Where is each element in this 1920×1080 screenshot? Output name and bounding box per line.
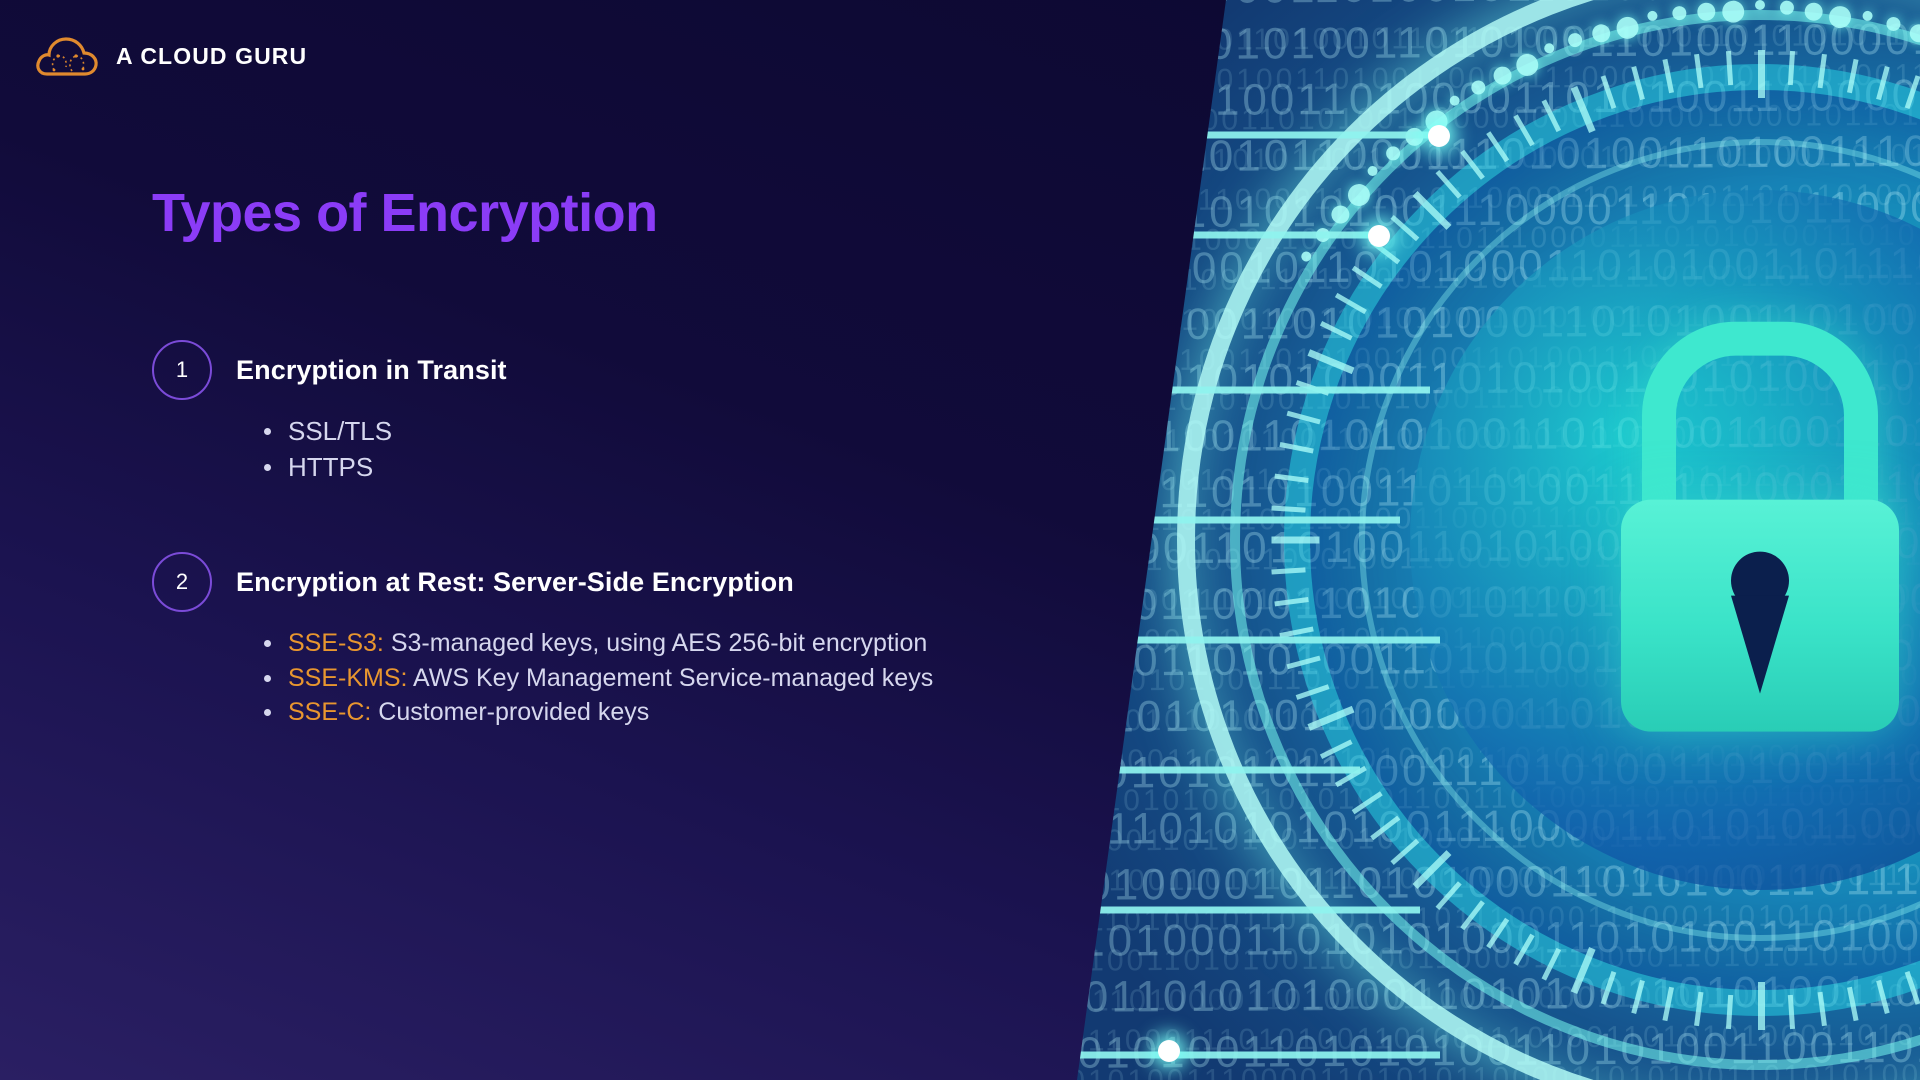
list-item: SSE-KMS: AWS Key Management Service-mana… — [262, 661, 933, 696]
bullet-label: SSE-KMS: — [288, 664, 413, 692]
section-number-badge: 2 — [152, 552, 212, 612]
cloud-icon — [34, 34, 100, 78]
bullet-text: HTTPS — [288, 452, 373, 482]
circuit-node — [1158, 1040, 1180, 1062]
slide-root: 0110100111010010110001101001011010010110… — [0, 0, 1920, 1080]
bullet-text: S3-managed keys, using AES 256-bit encry… — [391, 629, 927, 657]
page-title: Types of Encryption — [152, 182, 658, 244]
brand-name: A CLOUD GURU — [116, 43, 307, 70]
section-number-badge: 1 — [152, 340, 212, 400]
circuit-node — [1368, 225, 1390, 247]
section-heading: Encryption at Rest: Server-Side Encrypti… — [236, 567, 794, 598]
list-item: SSE-S3: S3-managed keys, using AES 256-b… — [262, 626, 933, 661]
brand-logo[interactable]: A CLOUD GURU — [34, 34, 307, 78]
bullet-text: SSL/TLS — [288, 416, 392, 446]
padlock-icon — [1610, 322, 1910, 742]
section-header: 1 Encryption in Transit — [152, 340, 507, 400]
bullet-text: AWS Key Management Service-managed keys — [413, 664, 933, 692]
list-item: HTTPS — [262, 450, 507, 486]
section-encryption-at-rest: 2 Encryption at Rest: Server-Side Encryp… — [152, 552, 933, 730]
bullet-list: SSE-S3: S3-managed keys, using AES 256-b… — [152, 626, 933, 730]
section-header: 2 Encryption at Rest: Server-Side Encryp… — [152, 552, 933, 612]
padlock-keyslot — [1731, 596, 1789, 694]
list-item: SSL/TLS — [262, 414, 507, 450]
circuit-node — [1428, 125, 1450, 147]
section-heading: Encryption in Transit — [236, 355, 507, 386]
list-item: SSE-C: Customer-provided keys — [262, 695, 933, 730]
section-encryption-in-transit: 1 Encryption in Transit SSL/TLSHTTPS — [152, 340, 507, 486]
bullet-text: Customer-provided keys — [378, 698, 649, 726]
content-panel — [0, 0, 1260, 1080]
bullet-list: SSL/TLSHTTPS — [152, 414, 507, 486]
bullet-label: SSE-S3: — [288, 629, 391, 657]
padlock-body — [1621, 500, 1899, 732]
bullet-label: SSE-C: — [288, 698, 378, 726]
